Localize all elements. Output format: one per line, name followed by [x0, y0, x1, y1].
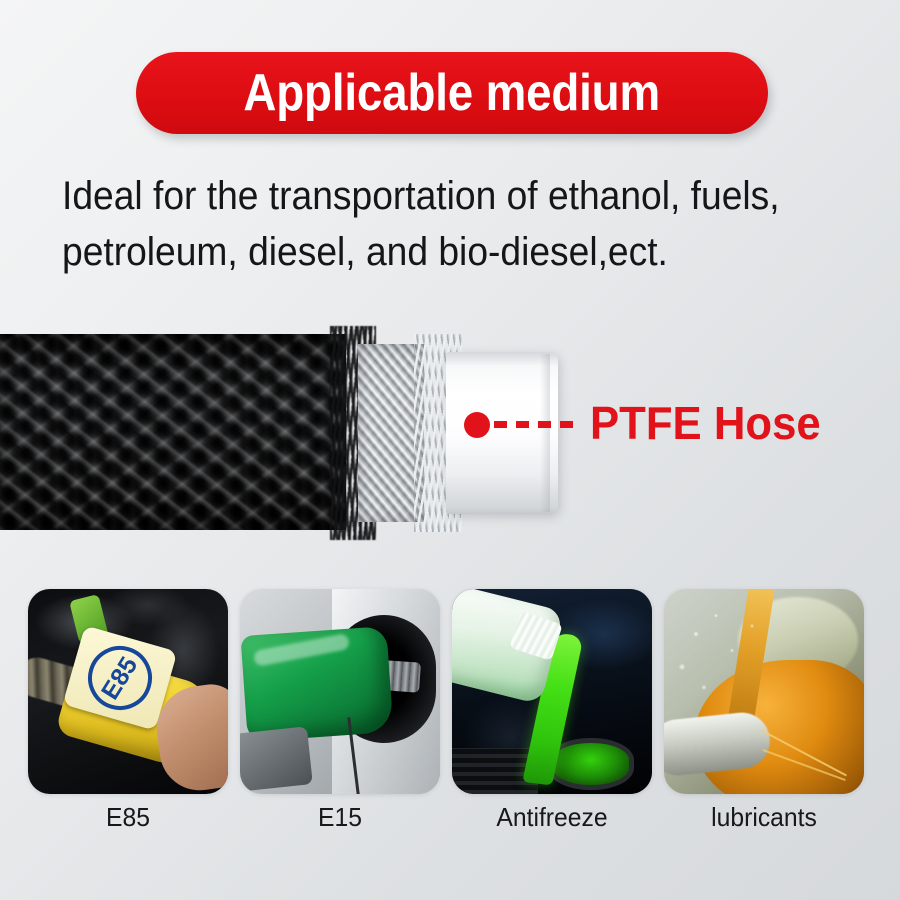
oil-splash-droplets: [664, 589, 864, 794]
thumbnail-antifreeze: [452, 589, 652, 794]
black-nylon-braid-layer: [0, 334, 346, 530]
media-thumbnail-row: E85: [28, 589, 880, 794]
callout-dot-icon: [464, 412, 490, 438]
description-line-2: petroleum, diesel, and bio-diesel,ect.: [62, 224, 806, 280]
caption-e85: E85: [33, 802, 223, 842]
caption-antifreeze: Antifreeze: [457, 802, 647, 842]
page-title: Applicable medium: [244, 63, 661, 123]
green-fuel-nozzle: [240, 626, 393, 742]
pump-handle-base: [240, 726, 313, 791]
section-title-banner: Applicable medium: [136, 52, 768, 134]
badge-label: E85: [96, 651, 144, 704]
description-line-1: Ideal for the transportation of ethanol,…: [62, 168, 806, 224]
infographic-page: Applicable medium Ideal for the transpor…: [0, 0, 900, 900]
badge-ring-icon: E85: [80, 638, 159, 717]
callout-dashed-leader-line: [494, 421, 582, 428]
media-caption-row: E85 E15 Antifreeze lubricants: [28, 802, 880, 842]
description-block: Ideal for the transportation of ethanol,…: [62, 168, 862, 280]
caption-lubricants: lubricants: [669, 802, 859, 842]
thumbnail-e15: [240, 589, 440, 794]
coolant-reservoir-opening: [548, 738, 634, 790]
callout-label: PTFE Hose: [590, 396, 821, 450]
caption-e15: E15: [245, 802, 435, 842]
white-ptfe-inner-tube: [446, 352, 558, 514]
thumbnail-lubricants: [664, 589, 864, 794]
thumbnail-e85: E85: [28, 589, 228, 794]
